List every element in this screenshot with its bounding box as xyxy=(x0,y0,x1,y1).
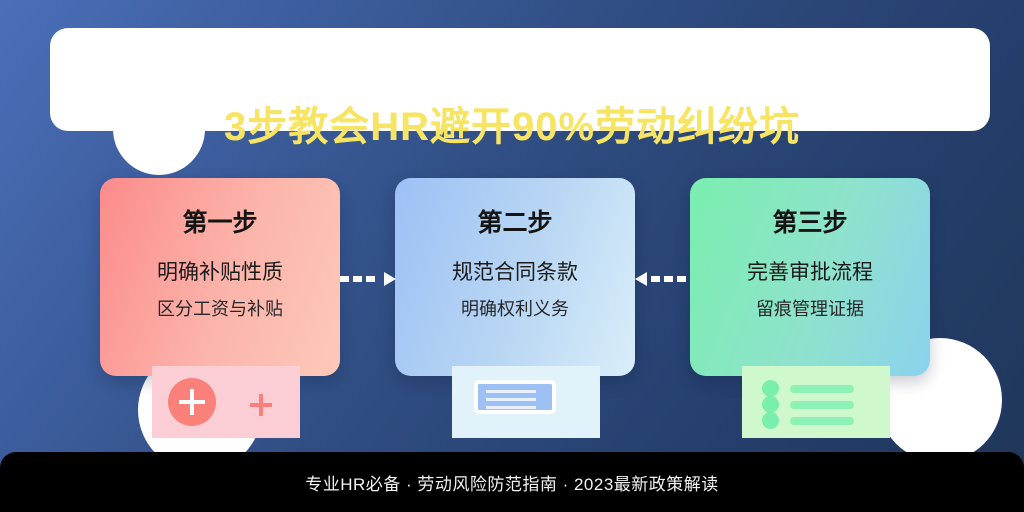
arrow-head xyxy=(635,272,647,286)
checklist-icon xyxy=(762,380,872,428)
checklist-bullet xyxy=(762,412,779,429)
document-line xyxy=(486,398,536,401)
arrow-head xyxy=(384,272,396,286)
step-1-icon-panel xyxy=(152,366,300,438)
checklist-row-bar xyxy=(790,401,854,409)
step-1-primary-text: 明确补贴性质 xyxy=(100,260,340,285)
infographic-poster: 3步教会HR避开90%劳动纠纷坑 第一步 明确补贴性质 区分工资与补贴 第二步 … xyxy=(0,0,1024,512)
arrow-right-icon xyxy=(340,272,396,286)
checklist-row-bar xyxy=(790,417,854,425)
step-1-heading: 第一步 xyxy=(100,208,340,238)
document-line xyxy=(486,390,536,393)
step-2-icon-panel xyxy=(452,366,600,438)
step-card-3: 第三步 完善审批流程 留痕管理证据 xyxy=(690,178,930,376)
step-3-icon-panel xyxy=(742,366,890,438)
arrow-left-icon xyxy=(635,272,691,286)
arrow-dash xyxy=(353,276,362,282)
step-2-secondary-text: 明确权利义务 xyxy=(395,299,635,321)
document-line xyxy=(486,406,536,409)
step-2-primary-text: 规范合同条款 xyxy=(395,260,635,285)
step-card-1: 第一步 明确补贴性质 区分工资与补贴 xyxy=(100,178,340,376)
plus-bar-vertical xyxy=(190,389,194,415)
checklist-bullet xyxy=(762,396,779,413)
step-3-secondary-text: 留痕管理证据 xyxy=(690,299,930,321)
checklist-bullet xyxy=(762,380,779,397)
step-3-primary-text: 完善审批流程 xyxy=(690,260,930,285)
step-card-2: 第二步 规范合同条款 明确权利义务 xyxy=(395,178,635,376)
page-title: 3步教会HR避开90%劳动纠纷坑 xyxy=(0,105,1024,149)
plus-bar-vertical xyxy=(259,394,263,416)
footer-bar: 专业HR必备 · 劳动风险防范指南 · 2023最新政策解读 xyxy=(0,452,1024,512)
checklist-row-bar xyxy=(790,385,854,393)
arrow-dash xyxy=(664,276,673,282)
arrow-dash xyxy=(651,276,660,282)
footer-caption: 专业HR必备 · 劳动风险防范指南 · 2023最新政策解读 xyxy=(305,470,719,495)
document-icon xyxy=(474,380,556,414)
step-2-heading: 第二步 xyxy=(395,208,635,238)
arrow-dash xyxy=(366,276,375,282)
arrow-dash xyxy=(677,276,686,282)
step-3-heading: 第三步 xyxy=(690,208,930,238)
plus-icon xyxy=(168,378,216,426)
plus-small-icon xyxy=(250,394,272,416)
arrow-dash xyxy=(340,276,349,282)
step-1-secondary-text: 区分工资与补贴 xyxy=(100,299,340,321)
